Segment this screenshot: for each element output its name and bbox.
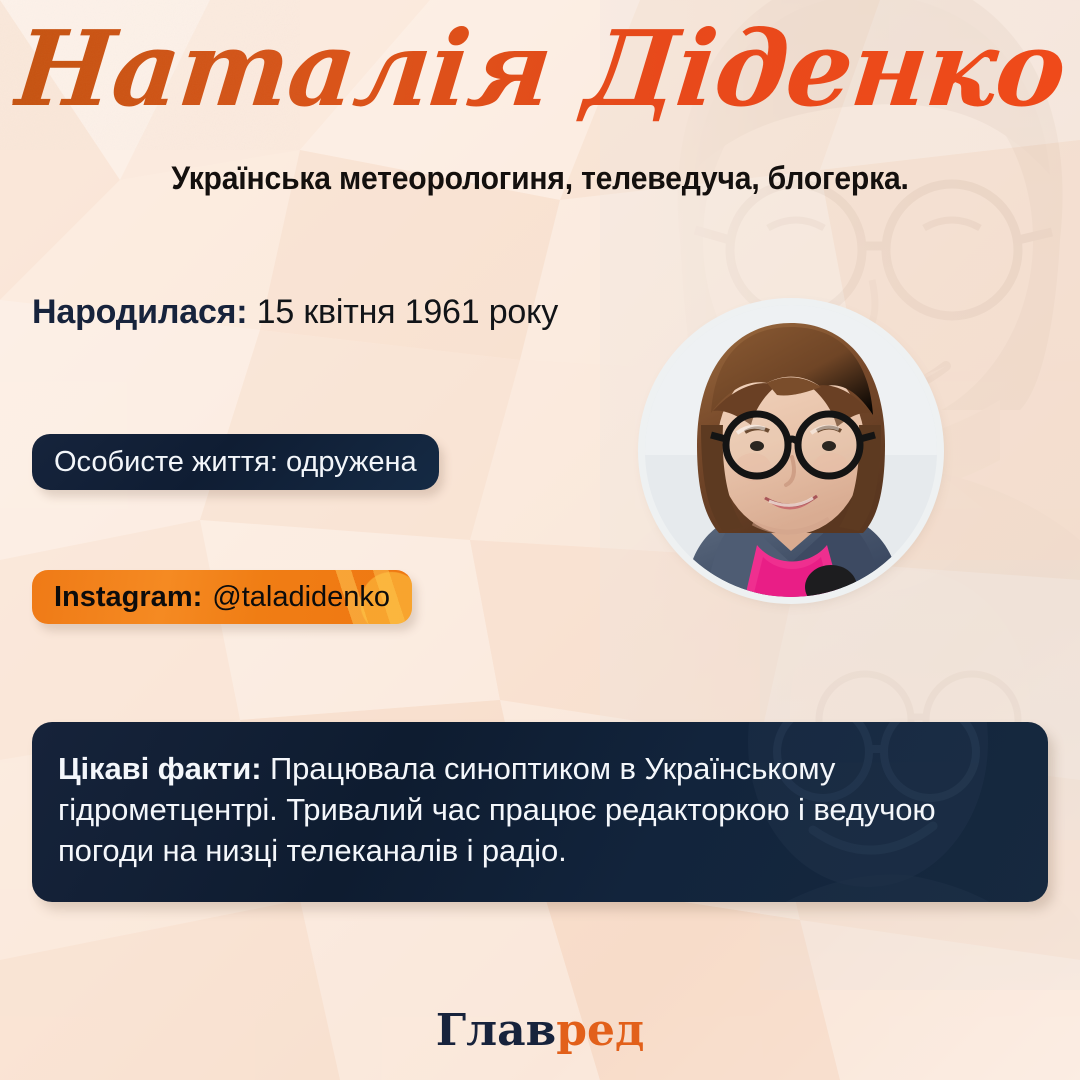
page-title: Наталія Діденко (10, 14, 1070, 123)
instagram-label: Instagram: (54, 581, 202, 614)
portrait-photo (645, 305, 937, 597)
facts-content: Цікаві факти: Працювала синоптиком в Укр… (58, 748, 1022, 872)
personal-life-text: Особисте життя: одружена (54, 446, 417, 479)
personal-life-badge[interactable]: Особисте життя: одружена (32, 434, 439, 490)
logo-part-one: Глав (436, 1005, 556, 1056)
born-value: 15 квітня 1961 року (257, 293, 558, 331)
logo-part-two: ред (556, 1005, 644, 1056)
born-label: Народилася: (32, 293, 247, 331)
infographic-card: Наталія Діденко Українська метеорологиня… (0, 0, 1080, 1080)
page-subtitle: Українська метеорологиня, телеведуча, бл… (32, 160, 1047, 197)
title-container: Наталія Діденко (0, 14, 1080, 123)
born-line: Народилася: 15 квітня 1961 року (32, 293, 558, 332)
instagram-handle: @taladidenko (202, 581, 390, 614)
portrait-illustration (645, 305, 937, 597)
interesting-facts-box: Цікаві факти: Працювала синоптиком в Укр… (32, 722, 1048, 902)
instagram-badge[interactable]: Instagram: @taladidenko (32, 570, 412, 624)
brand-logo[interactable]: Главред (0, 1005, 1080, 1056)
facts-label: Цікаві факти: (58, 751, 261, 786)
